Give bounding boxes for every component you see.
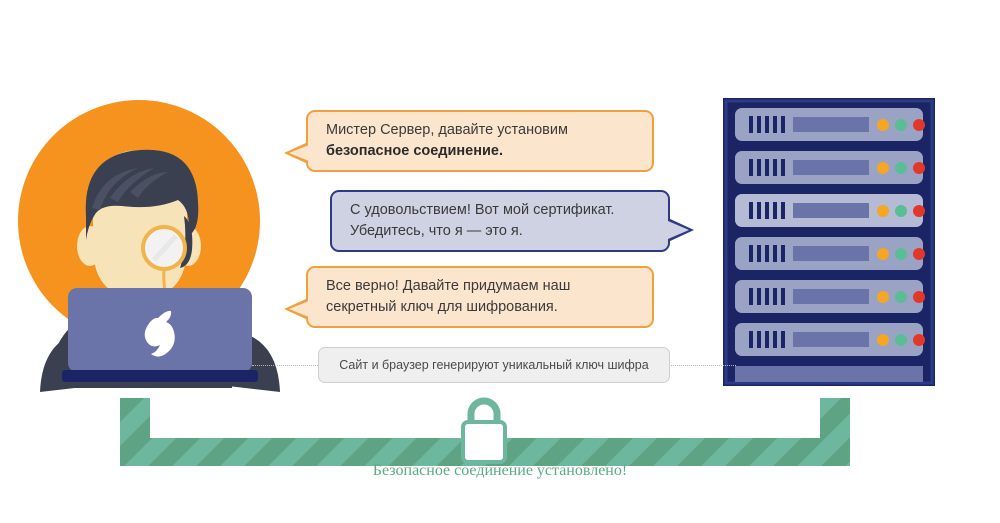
secure-connection-caption: Безопасное соединение установлено! [0,462,1000,480]
bubble-1-tail-fill [289,145,309,161]
bubble-3-tail-fill [289,301,309,317]
encryption-note-text: Сайт и браузер генерируют уникальный клю… [339,358,648,372]
bubble-2-tail-fill [668,221,689,239]
speech-bubble-3-text: Все верно! Давайте придумаем нашсекретны… [326,276,570,318]
encryption-note-box: Сайт и браузер генерируют уникальный клю… [318,347,670,383]
server-unit [735,151,925,184]
infographic-canvas: Мистер Сервер, давайте установимбезопасн… [0,0,1000,523]
server-base-bar [735,366,923,382]
speech-bubble-1: Мистер Сервер, давайте установимбезопасн… [306,110,654,172]
server-unit [735,323,925,356]
laptop-illustration [40,282,280,392]
speech-bubble-3: Все верно! Давайте придумаем нашсекретны… [306,266,654,328]
padlock-icon [455,392,513,464]
note-connector-left [252,365,324,366]
server-unit [735,194,925,227]
server-unit [735,280,925,313]
server-unit [735,237,925,270]
speech-bubble-2-text: С удовольствием! Вот мой сертификат.Убед… [350,200,614,242]
note-connector-right [664,365,736,366]
server-unit [735,108,925,141]
server-rack-illustration [723,98,935,386]
speech-bubble-2: С удовольствием! Вот мой сертификат.Убед… [330,190,670,252]
speech-bubble-1-text: Мистер Сервер, давайте установимбезопасн… [326,120,568,162]
